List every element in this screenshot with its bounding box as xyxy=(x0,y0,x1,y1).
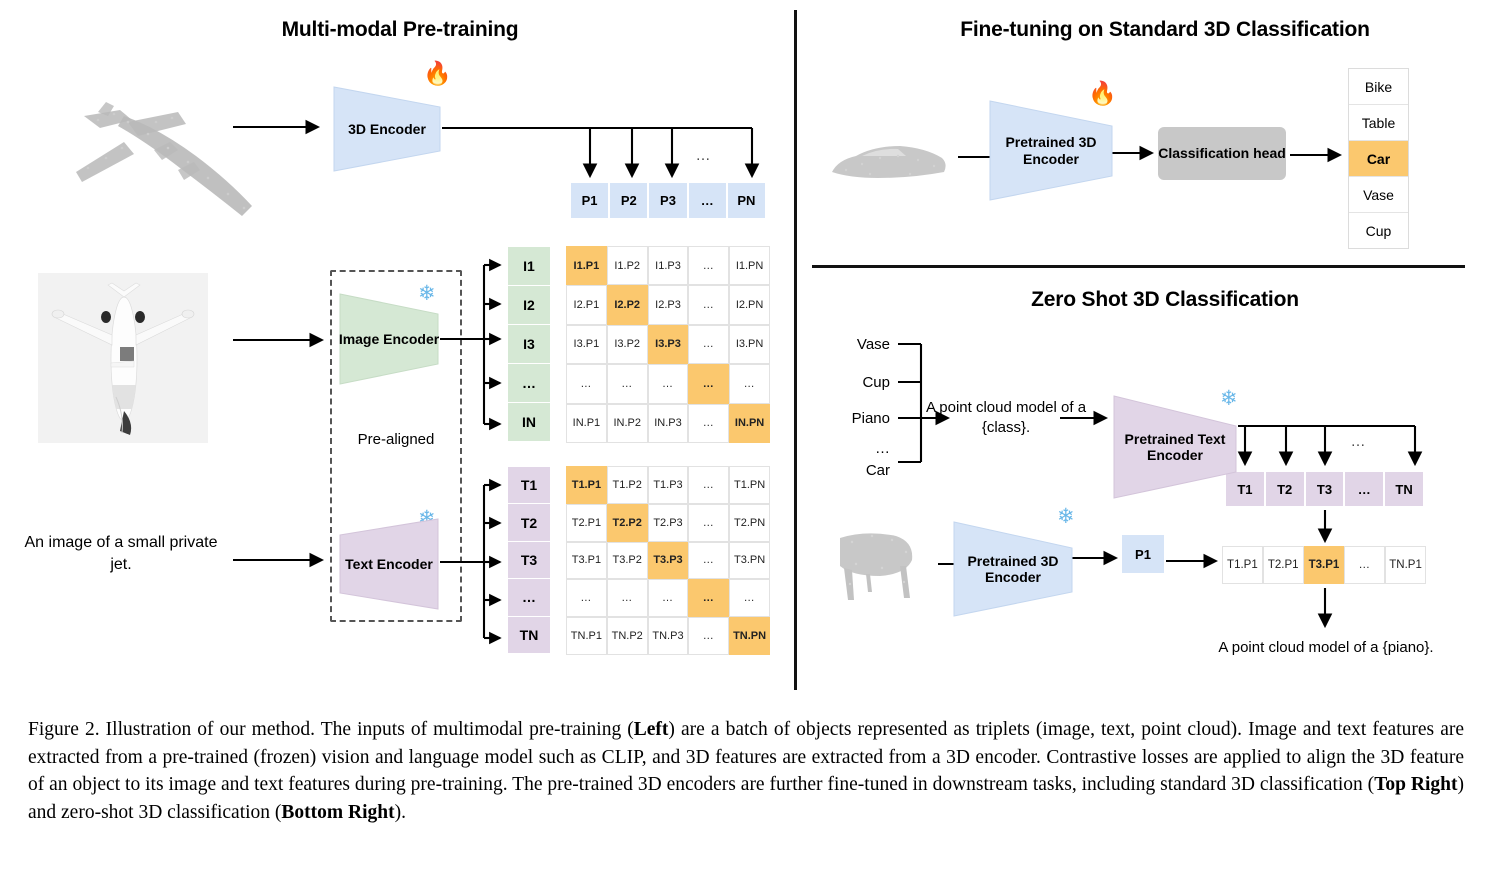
text-matrix-cell-2-3: … xyxy=(688,542,729,580)
t-feature-cell-left-1: T2 xyxy=(508,504,550,541)
p-feature-cell-3: … xyxy=(688,182,727,219)
i-feature-cell-2: I3 xyxy=(508,325,550,364)
zeroshot-class-label-3: … xyxy=(875,440,890,457)
similarity-cell-1: T2.P1 xyxy=(1263,546,1304,584)
pretrained-3d-encoder-topright-label: Pretrained 3D Encoder xyxy=(988,134,1114,166)
t-feature-cell-4: TN xyxy=(1384,471,1424,507)
zeroshot-class-label-4: Car xyxy=(866,462,890,479)
t-feature-column: T1T2T3…TN xyxy=(508,467,550,654)
text-matrix-cell-4-0: TN.P1 xyxy=(566,617,607,655)
image-matrix-cell-4-1: IN.P2 xyxy=(607,404,648,443)
classification-head-label: Classification head xyxy=(1158,145,1286,162)
class-prediction-list[interactable]: BikeTableCarVaseCup xyxy=(1348,68,1409,249)
text-matrix-cell-0-4: T1.PN xyxy=(729,466,770,504)
t-feature-cell-left-3: … xyxy=(508,579,550,616)
caption-bold-topright: Top Right xyxy=(1374,774,1457,795)
p-feature-cell-1: P2 xyxy=(609,182,648,219)
caption-bold-left: Left xyxy=(634,719,669,740)
text-matrix-cell-4-4: TN.PN xyxy=(729,617,770,655)
image-matrix-cell-1-3: … xyxy=(688,285,729,324)
zeroshot-class-label-1: Cup xyxy=(862,374,890,391)
text-matrix-cell-3-0: … xyxy=(566,579,607,617)
image-matrix-cell-2-2: I3.P3 xyxy=(648,325,689,364)
bottomright-panel-title: Zero Shot 3D Classification xyxy=(930,288,1400,312)
image-matrix-cell-4-3: … xyxy=(688,404,729,443)
t-feature-cell-1: T2 xyxy=(1265,471,1305,507)
point-cloud-piano xyxy=(822,522,942,612)
vertical-divider xyxy=(794,10,797,690)
text-matrix-cell-1-1: T2.P2 xyxy=(607,504,648,542)
pretrained-text-encoder[interactable]: Pretrained Text Encoder xyxy=(1112,392,1238,502)
t-feature-cell-2: T3 xyxy=(1305,471,1345,507)
image-matrix-cell-3-0: … xyxy=(566,364,607,403)
text-input-caption: An image of a small private jet. xyxy=(22,532,220,575)
encoder-3d[interactable]: 3D Encoder xyxy=(332,83,442,175)
text-matrix-cell-1-4: T2.PN xyxy=(729,504,770,542)
rendered-image-airplane xyxy=(38,273,208,443)
text-matrix-cell-3-2: … xyxy=(648,579,689,617)
encoder-text[interactable]: Text Encoder xyxy=(338,517,440,611)
i-feature-cell-4: IN xyxy=(508,403,550,442)
point-cloud-car xyxy=(822,130,952,192)
p-row-ellipsis: … xyxy=(688,146,718,166)
image-matrix-cell-0-2: I1.P3 xyxy=(648,246,689,285)
encoder-text-label: Text Encoder xyxy=(345,556,433,572)
t-feature-row-zeroshot: T1T2T3…TN xyxy=(1225,471,1424,507)
encoder-image-label: Image Encoder xyxy=(339,331,439,347)
text-matrix-cell-3-1: … xyxy=(607,579,648,617)
i-feature-cell-0: I1 xyxy=(508,247,550,286)
similarity-cell-3: … xyxy=(1344,546,1385,584)
figure-caption: Figure 2. Illustration of our method. Th… xyxy=(28,716,1464,827)
text-matrix-cell-2-2: T3.P3 xyxy=(648,542,689,580)
topright-panel-title: Fine-tuning on Standard 3D Classificatio… xyxy=(880,18,1450,42)
p-feature-cell-0: P1 xyxy=(570,182,609,219)
pre-aligned-label: Pre-aligned xyxy=(328,430,464,450)
left-panel-title: Multi-modal Pre-training xyxy=(180,18,620,42)
similarity-cell-2: T3.P1 xyxy=(1304,546,1345,584)
t-feature-cell-left-0: T1 xyxy=(508,467,550,504)
t-feature-cell-left-4: TN xyxy=(508,617,550,654)
image-matrix-cell-0-1: I1.P2 xyxy=(607,246,648,285)
fire-icon: 🔥 xyxy=(423,62,452,85)
i-feature-cell-3: … xyxy=(508,364,550,403)
image-similarity-matrix: I1.P1I1.P2I1.P3…I1.PNI2.P1I2.P2I2.P3…I2.… xyxy=(566,246,770,443)
similarity-cell-4: TN.P1 xyxy=(1385,546,1426,584)
zeroshot-class-list: VaseCupPiano…Car xyxy=(826,336,890,472)
p-feature-cell-2: P3 xyxy=(648,182,687,219)
class-list-item-bike[interactable]: Bike xyxy=(1349,69,1408,105)
text-matrix-cell-4-1: TN.P2 xyxy=(607,617,648,655)
image-matrix-cell-2-1: I3.P2 xyxy=(607,325,648,364)
caption-part-1: Figure 2. Illustration of our method. Th… xyxy=(28,719,634,740)
i-feature-column: I1I2I3…IN xyxy=(508,247,550,442)
similarity-cell-0: T1.P1 xyxy=(1222,546,1263,584)
p1-feature-box: P1 xyxy=(1122,535,1164,573)
class-list-item-car[interactable]: Car xyxy=(1349,141,1408,177)
image-matrix-cell-3-4: … xyxy=(729,364,770,403)
text-matrix-cell-0-3: … xyxy=(688,466,729,504)
prompt-template-text: A point cloud model of a {class}. xyxy=(912,398,1100,439)
encoder-3d-label: 3D Encoder xyxy=(348,121,426,137)
text-matrix-cell-1-2: T2.P3 xyxy=(648,504,689,542)
pretrained-3d-encoder-zeroshot-label: Pretrained 3D Encoder xyxy=(952,553,1074,585)
image-matrix-cell-1-1: I2.P2 xyxy=(607,285,648,324)
class-list-item-vase[interactable]: Vase xyxy=(1349,177,1408,213)
image-matrix-cell-4-4: IN.PN xyxy=(729,404,770,443)
figure-canvas: Multi-modal Pre-training Fine-tuning on … xyxy=(0,0,1490,700)
text-matrix-cell-3-3: … xyxy=(688,579,729,617)
horizontal-divider xyxy=(812,265,1465,268)
encoder-image[interactable]: Image Encoder xyxy=(338,292,440,386)
text-matrix-cell-0-2: T1.P3 xyxy=(648,466,689,504)
class-list-item-cup[interactable]: Cup xyxy=(1349,213,1408,248)
image-matrix-cell-2-3: … xyxy=(688,325,729,364)
zeroshot-result-text: A point cloud model of a {piano}. xyxy=(1186,638,1466,658)
text-matrix-cell-2-1: T3.P2 xyxy=(607,542,648,580)
i-feature-cell-1: I2 xyxy=(508,286,550,325)
classification-head[interactable]: Classification head xyxy=(1158,127,1286,180)
similarity-row-zeroshot: T1.P1T2.P1T3.P1…TN.P1 xyxy=(1222,546,1426,584)
image-matrix-cell-4-2: IN.P3 xyxy=(648,404,689,443)
t-feature-cell-left-2: T3 xyxy=(508,542,550,579)
text-matrix-cell-2-0: T3.P1 xyxy=(566,542,607,580)
p-feature-row: P1P2P3…PN xyxy=(570,182,766,219)
zeroshot-class-label-0: Vase xyxy=(857,336,890,353)
image-matrix-cell-3-1: … xyxy=(607,364,648,403)
image-matrix-cell-4-0: IN.P1 xyxy=(566,404,607,443)
t-row-ellipsis: … xyxy=(1343,432,1373,452)
text-matrix-cell-4-2: TN.P3 xyxy=(648,617,689,655)
image-matrix-cell-3-2: … xyxy=(648,364,689,403)
pretrained-3d-encoder-zeroshot[interactable]: Pretrained 3D Encoder xyxy=(952,518,1074,620)
text-matrix-cell-1-0: T2.P1 xyxy=(566,504,607,542)
image-matrix-cell-2-0: I3.P1 xyxy=(566,325,607,364)
zeroshot-class-label-2: Piano xyxy=(852,410,890,427)
pretrained-text-encoder-label: Pretrained Text Encoder xyxy=(1112,431,1238,463)
image-matrix-cell-0-4: I1.PN xyxy=(729,246,770,285)
p1-feature-label: P1 xyxy=(1135,547,1151,562)
p-feature-cell-4: PN xyxy=(727,182,766,219)
image-matrix-cell-1-2: I2.P3 xyxy=(648,285,689,324)
point-cloud-airplane xyxy=(28,50,278,230)
text-matrix-cell-0-1: T1.P2 xyxy=(607,466,648,504)
image-matrix-cell-0-3: … xyxy=(688,246,729,285)
image-matrix-cell-3-3: … xyxy=(688,364,729,403)
text-matrix-cell-1-3: … xyxy=(688,504,729,542)
class-list-item-table[interactable]: Table xyxy=(1349,105,1408,141)
image-matrix-cell-1-4: I2.PN xyxy=(729,285,770,324)
t-feature-cell-3: … xyxy=(1344,471,1384,507)
text-similarity-matrix: T1.P1T1.P2T1.P3…T1.PNT2.P1T2.P2T2.P3…T2.… xyxy=(566,466,770,655)
text-matrix-cell-2-4: T3.PN xyxy=(729,542,770,580)
image-matrix-cell-2-4: I3.PN xyxy=(729,325,770,364)
pretrained-3d-encoder-topright[interactable]: Pretrained 3D Encoder xyxy=(988,98,1114,203)
caption-part-4: ). xyxy=(395,802,406,823)
image-matrix-cell-1-0: I2.P1 xyxy=(566,285,607,324)
caption-bold-bottomright: Bottom Right xyxy=(281,802,394,823)
text-matrix-cell-3-4: … xyxy=(729,579,770,617)
text-matrix-cell-4-3: … xyxy=(688,617,729,655)
text-matrix-cell-0-0: T1.P1 xyxy=(566,466,607,504)
image-matrix-cell-0-0: I1.P1 xyxy=(566,246,607,285)
